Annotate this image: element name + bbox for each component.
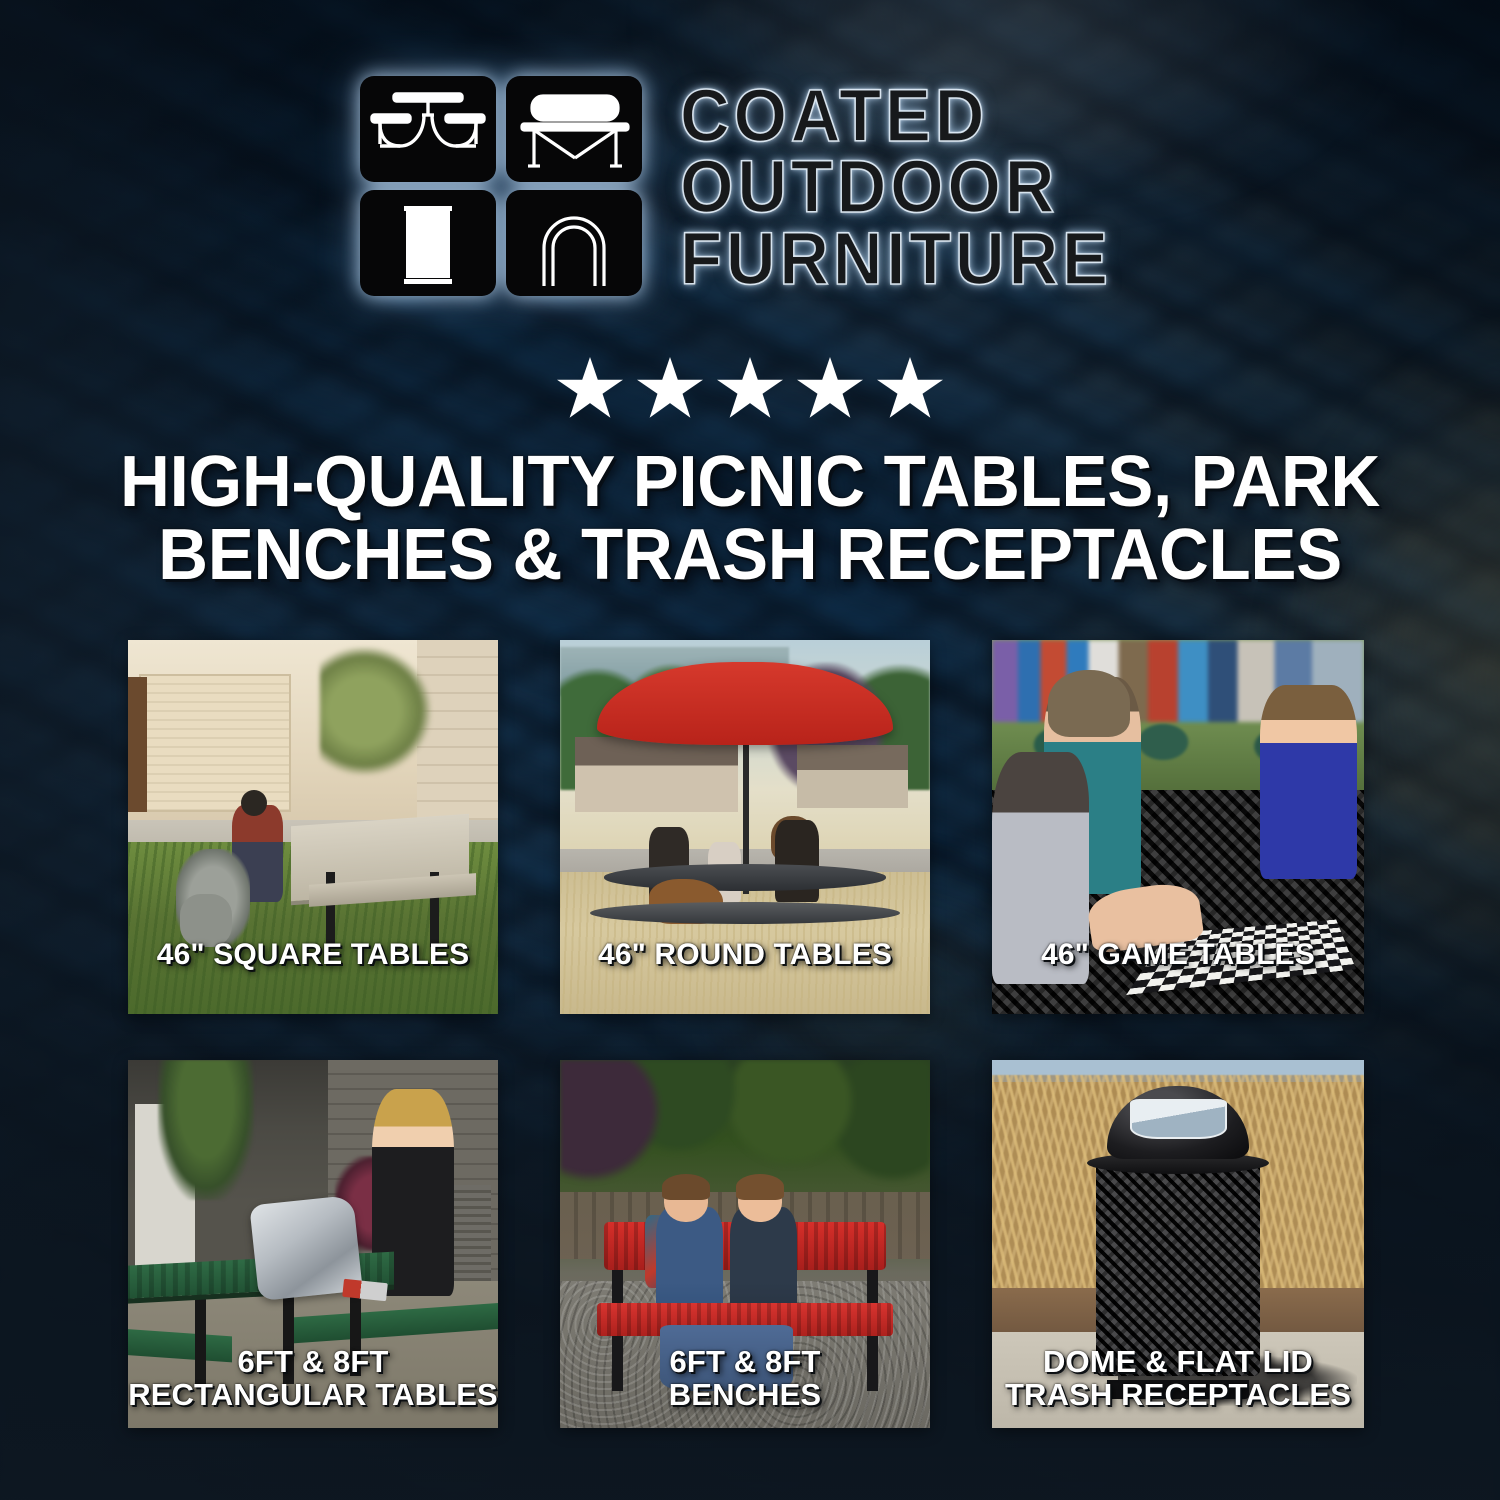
trash-receptacle-icon [404, 206, 452, 284]
product-tile-rectangular-tables[interactable]: 6FT & 8FT RECTANGULAR TABLES [128, 1060, 498, 1428]
product-caption: 46" SQUARE TABLES [128, 940, 498, 970]
product-caption: 6FT & 8FT BENCHES [560, 1346, 930, 1412]
brand-name-line-3: FURNITURE [680, 224, 1112, 294]
caption-line-1: 46" ROUND TABLES [560, 940, 930, 970]
caption-line-1: 46" GAME TABLES [992, 940, 1364, 970]
product-tile-round-tables[interactable]: 46" ROUND TABLES [560, 640, 930, 1014]
product-caption: 6FT & 8FT RECTANGULAR TABLES [128, 1346, 498, 1412]
caption-line-1: 6FT & 8FT [560, 1346, 930, 1379]
caption-line-2: TRASH RECEPTACLES [992, 1379, 1364, 1412]
brand-wordmark: COATED OUTDOOR FURNITURE [680, 81, 1144, 294]
caption-line-2: RECTANGULAR TABLES [128, 1379, 498, 1412]
star-icon [557, 357, 623, 421]
caption-line-1: 46" SQUARE TABLES [128, 940, 498, 970]
product-tile-game-tables[interactable]: 46" GAME TABLES [992, 640, 1364, 1014]
product-caption: DOME & FLAT LID TRASH RECEPTACLES [992, 1346, 1364, 1412]
product-banner: COATED OUTDOOR FURNITURE HIGH-QUALITY PI… [0, 0, 1500, 1500]
star-icon [877, 357, 943, 421]
headline-line-1: HIGH-QUALITY PICNIC TABLES, PARK [88, 446, 1413, 519]
product-caption: 46" ROUND TABLES [560, 940, 930, 970]
product-tile-square-tables[interactable]: 46" SQUARE TABLES [128, 640, 498, 1014]
caption-line-1: 6FT & 8FT [128, 1346, 498, 1379]
headline-line-2: BENCHES & TRASH RECEPTACLES [88, 519, 1413, 592]
caption-line-1: DOME & FLAT LID [992, 1346, 1364, 1379]
coated-outdoor-furniture-logo[interactable] [356, 72, 646, 300]
brand-header: COATED OUTDOOR FURNITURE [0, 66, 1500, 306]
brand-name-line-1: COATED [680, 81, 988, 151]
star-icon [637, 357, 703, 421]
product-caption: 46" GAME TABLES [992, 940, 1364, 970]
page-title: HIGH-QUALITY PICNIC TABLES, PARK BENCHES… [88, 446, 1413, 593]
brand-name-line-2: OUTDOOR [680, 152, 1058, 222]
caption-line-2: BENCHES [560, 1379, 930, 1412]
star-rating [0, 352, 1500, 426]
product-tile-benches[interactable]: 6FT & 8FT BENCHES [560, 1060, 930, 1428]
star-icon [797, 357, 863, 421]
product-tile-trash-receptacles[interactable]: DOME & FLAT LID TRASH RECEPTACLES [992, 1060, 1364, 1428]
product-grid: 46" SQUARE TABLES [128, 640, 1372, 1428]
star-icon [717, 357, 783, 421]
